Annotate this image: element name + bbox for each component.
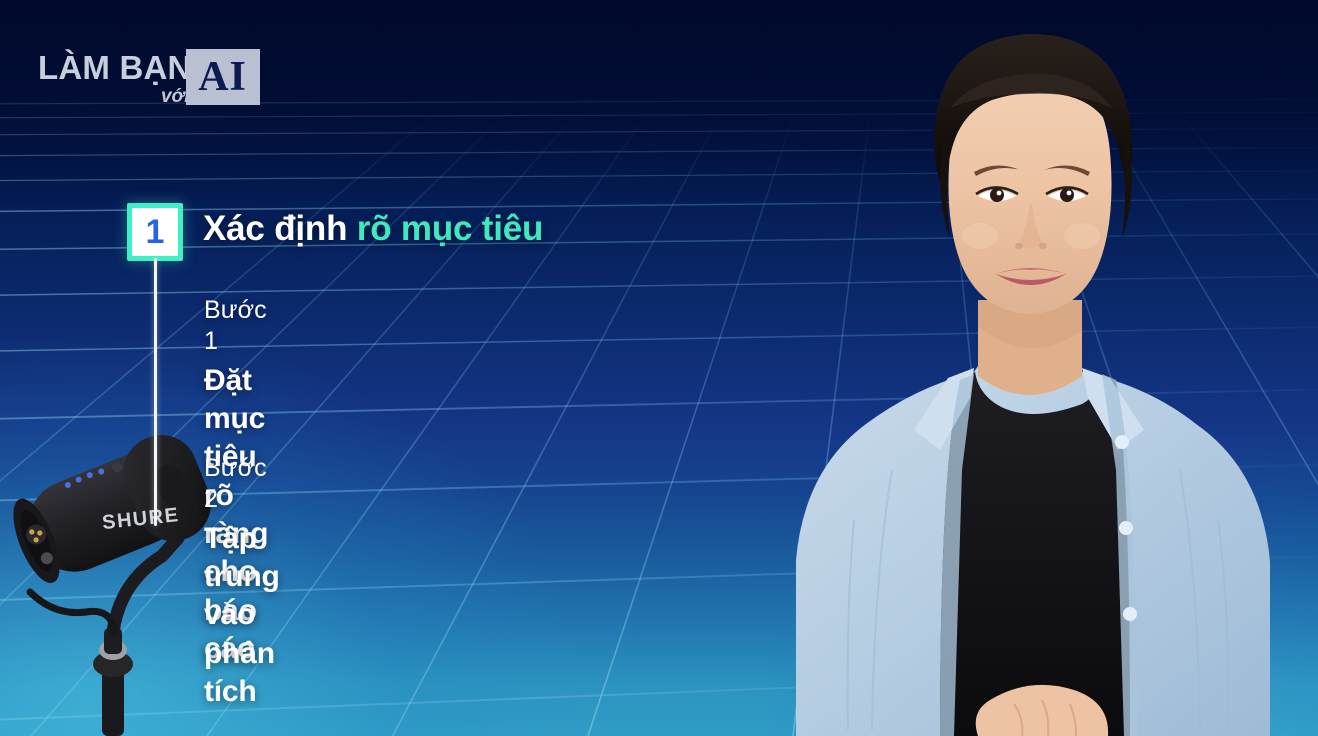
brand-logo-ai-text: AI	[198, 56, 247, 98]
timeline-connector-line	[154, 258, 157, 526]
step-number-value: 1	[146, 215, 165, 249]
brand-logo[interactable]: LÀM BẠN với AI	[38, 40, 260, 106]
video-slide: SHURE LÀM BẠN với AI 1 Xác định rõ mục t…	[0, 0, 1318, 736]
presenter-photo	[678, 0, 1318, 736]
step-2-title: Tập trung vào phân tích	[204, 520, 280, 712]
page-title-plain: Xác định	[203, 209, 347, 248]
step-2-label: Bước 2	[204, 453, 280, 516]
page-title-accent: rõ mục tiêu	[357, 209, 543, 248]
step-number-badge: 1	[127, 203, 183, 261]
brand-logo-ai-badge: AI	[186, 49, 260, 105]
step-1-label: Bước 1	[204, 295, 268, 358]
step-item-2: Bước 2 Tập trung vào phân tích	[204, 453, 280, 711]
brand-logo-line1: LÀM BẠN	[38, 51, 192, 84]
step-number-badge-inner: 1	[132, 208, 178, 256]
page-title: Xác định rõ mục tiêu	[203, 209, 543, 249]
brand-logo-words: LÀM BẠN với	[38, 51, 192, 106]
